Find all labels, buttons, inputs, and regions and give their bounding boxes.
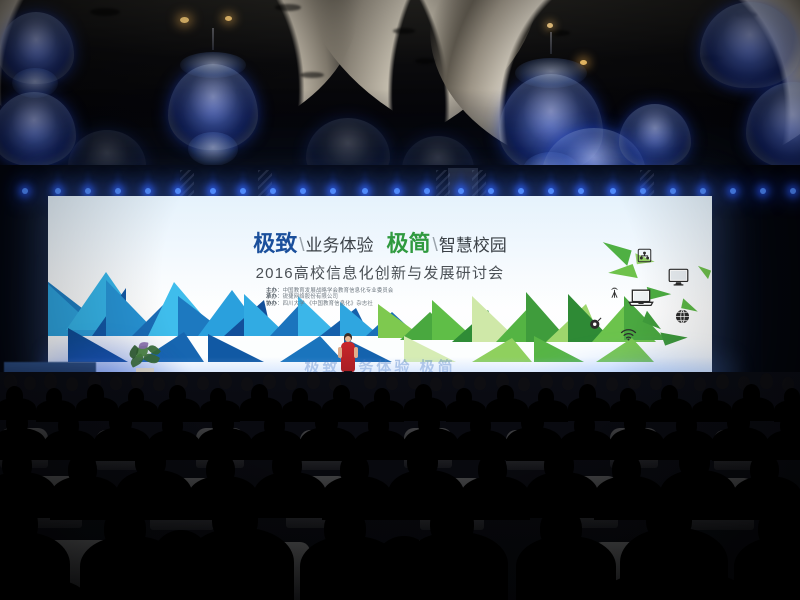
led-spot bbox=[790, 188, 796, 194]
globe-icon bbox=[674, 308, 691, 325]
chandelier-tier bbox=[180, 52, 246, 78]
headline-part2-rest: 智慧校园 bbox=[439, 236, 507, 255]
ceiling-coffer bbox=[275, 4, 301, 11]
organizer-value: 锐捷网络股份有限公司 bbox=[283, 294, 338, 300]
chandelier-tier bbox=[515, 58, 587, 88]
led-spot bbox=[145, 188, 151, 194]
audience-seating bbox=[0, 372, 800, 600]
led-spot bbox=[22, 188, 28, 194]
warm-downlight bbox=[180, 17, 189, 23]
screen-headline: 极致\业务体验极简\智慧校园 bbox=[48, 226, 712, 258]
chandelier-tier bbox=[188, 132, 238, 166]
headline-part2-bold: 极简 bbox=[387, 232, 431, 257]
organizer-label: 承办 bbox=[266, 294, 277, 300]
organizer-list: 主办：中国教育发展战略学会教育信息化专业委员会 承办：锐捷网络股份有限公司 协办… bbox=[266, 288, 526, 307]
headline-part1-bold: 极致 bbox=[253, 232, 297, 257]
led-spot bbox=[210, 188, 216, 194]
presenter-dress bbox=[341, 342, 355, 372]
led-spot bbox=[578, 188, 584, 194]
led-spot bbox=[240, 188, 246, 194]
ceiling-coffer bbox=[415, 58, 435, 64]
led-spot bbox=[730, 188, 736, 194]
led-spot bbox=[518, 188, 524, 194]
led-spot bbox=[488, 188, 494, 194]
led-spot bbox=[640, 188, 646, 194]
led-spot bbox=[362, 188, 368, 194]
led-spot bbox=[458, 188, 464, 194]
led-spot bbox=[85, 188, 91, 194]
monitor-icon bbox=[668, 268, 689, 286]
ceiling-coffer bbox=[300, 72, 324, 78]
laptop-icon bbox=[628, 288, 654, 308]
organizer-label: 协办 bbox=[266, 301, 277, 307]
screen-subtitle: 2016高校信息化创新与发展研讨会 bbox=[48, 262, 712, 283]
satellite-dish-icon bbox=[588, 316, 603, 331]
led-spot bbox=[700, 188, 706, 194]
organizer-line: 协办：四川大学 《中国教育信息化》杂志社 bbox=[266, 301, 526, 308]
led-spot bbox=[548, 188, 554, 194]
presenter-face bbox=[345, 336, 351, 342]
ceiling-coffer bbox=[393, 28, 415, 34]
led-spot bbox=[610, 188, 616, 194]
led-spot bbox=[330, 188, 336, 194]
warm-downlight bbox=[225, 16, 232, 21]
chandelier-stem bbox=[212, 28, 214, 50]
led-spot bbox=[670, 188, 676, 194]
led-spot bbox=[55, 188, 61, 194]
presenter-arm bbox=[338, 347, 342, 358]
led-spot bbox=[760, 188, 766, 194]
headline-part1-rest: 业务体验 bbox=[306, 236, 374, 255]
led-spot bbox=[115, 188, 121, 194]
ceiling-coffer bbox=[90, 8, 120, 16]
led-spot bbox=[394, 188, 400, 194]
presenter-arm bbox=[354, 347, 358, 358]
headline-slash-1: \ bbox=[299, 235, 304, 256]
network-hub-icon bbox=[637, 248, 652, 263]
headline-slash-2: \ bbox=[433, 235, 438, 256]
led-spot bbox=[424, 188, 430, 194]
led-spot bbox=[175, 188, 181, 194]
organizer-value: 四川大学 《中国教育信息化》杂志社 bbox=[283, 301, 373, 307]
conference-hall-photo: 极致\业务体验极简\智慧校园 2016高校信息化创新与发展研讨会 主办：中国教育… bbox=[0, 0, 800, 600]
antenna-tower-icon bbox=[608, 286, 621, 299]
led-spot bbox=[270, 188, 276, 194]
warm-downlight bbox=[547, 23, 553, 28]
chandelier-stem bbox=[550, 32, 552, 54]
chandelier bbox=[158, 28, 268, 168]
led-spot bbox=[300, 188, 306, 194]
